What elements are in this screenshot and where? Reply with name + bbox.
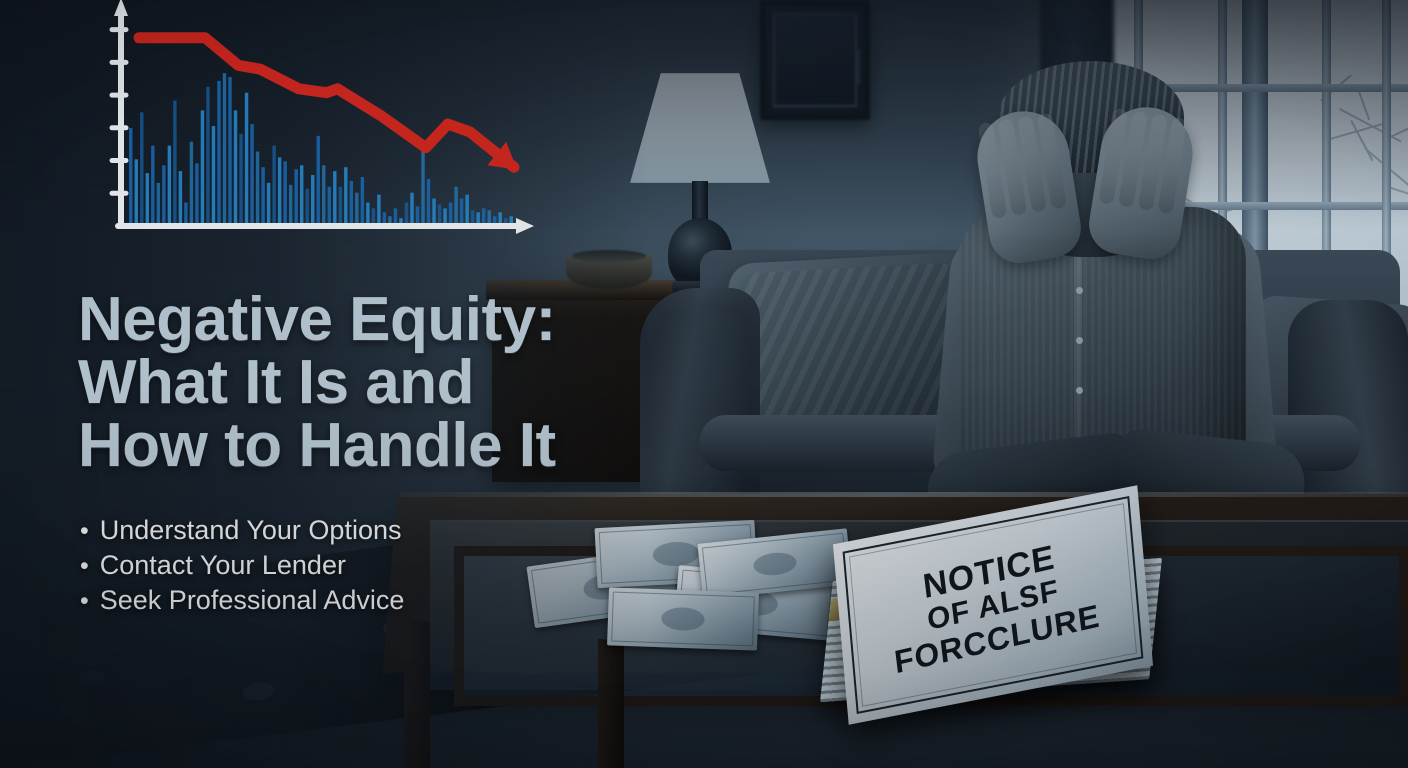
chart-bar xyxy=(377,195,380,226)
chart-bar xyxy=(151,146,154,226)
chart-bar xyxy=(289,185,292,226)
chart-bar xyxy=(317,136,320,226)
chart-bar xyxy=(129,128,132,226)
headline-line-3: How to Handle It xyxy=(78,414,556,477)
declining-market-chart xyxy=(96,0,556,248)
chart-bar xyxy=(300,165,303,226)
chart-bar xyxy=(328,187,331,226)
chart-bar xyxy=(256,152,259,226)
chart-bar xyxy=(190,142,193,226)
chart-bar xyxy=(350,181,353,226)
chart-bar xyxy=(217,81,220,226)
chart-bar xyxy=(366,202,369,226)
chart-svg xyxy=(96,0,556,248)
chart-bar xyxy=(432,199,435,226)
chart-bar xyxy=(228,77,231,226)
bullet-marker-icon: • xyxy=(80,519,89,544)
chart-bar xyxy=(438,204,441,226)
chart-bar xyxy=(465,195,468,226)
list-item: • Seek Professional Advice xyxy=(80,583,404,618)
chart-bar xyxy=(306,189,309,226)
chart-bar xyxy=(294,169,297,226)
trend-line xyxy=(139,38,514,167)
chart-bar xyxy=(261,167,264,226)
chart-bar xyxy=(140,112,143,226)
chart-bar xyxy=(162,165,165,226)
chart-bar xyxy=(421,142,424,226)
chart-bar xyxy=(427,179,430,226)
chart-bar xyxy=(157,183,160,226)
chart-bar xyxy=(168,146,171,226)
chart-bar xyxy=(179,171,182,226)
page-title: Negative Equity: What It Is and How to H… xyxy=(78,288,556,478)
chart-bar xyxy=(449,202,452,226)
chart-bar xyxy=(146,173,149,226)
chart-bar xyxy=(272,146,275,226)
chart-bar xyxy=(223,73,226,226)
chart-bar xyxy=(135,159,138,226)
chart-bar xyxy=(361,177,364,226)
chart-bar xyxy=(405,202,408,226)
bullet-marker-icon: • xyxy=(80,589,89,614)
list-item-label: Understand Your Options xyxy=(100,513,402,548)
chart-bar xyxy=(460,199,463,226)
chart-bar xyxy=(339,187,342,226)
chart-bar xyxy=(250,124,253,226)
chart-bar xyxy=(410,193,413,226)
chart-bar xyxy=(344,167,347,226)
chart-bar xyxy=(195,163,198,226)
chart-bar xyxy=(184,202,187,226)
chart-bar xyxy=(355,193,358,226)
list-item: • Contact Your Lender xyxy=(80,548,404,583)
headline-line-2: What It Is and xyxy=(78,351,556,414)
chart-bar xyxy=(278,157,281,226)
chart-bar xyxy=(212,126,215,226)
bullet-marker-icon: • xyxy=(80,554,89,579)
headline-line-1: Negative Equity: xyxy=(78,288,556,351)
chart-bar xyxy=(267,183,270,226)
list-item-label: Contact Your Lender xyxy=(100,548,346,583)
list-item-label: Seek Professional Advice xyxy=(100,583,405,618)
chart-bar xyxy=(201,110,204,226)
chart-bar xyxy=(173,101,176,226)
chart-bar xyxy=(234,110,237,226)
chart-bar xyxy=(454,187,457,226)
banner-canvas: NOTICE OF ALSF FORCCLURE Negative Equity xyxy=(0,0,1408,768)
chart-bar xyxy=(206,87,209,226)
chart-bar xyxy=(322,165,325,226)
chart-bar xyxy=(333,171,336,226)
chart-bar xyxy=(311,175,314,226)
key-points-list: • Understand Your Options • Contact Your… xyxy=(80,513,404,617)
list-item: • Understand Your Options xyxy=(80,513,404,548)
chart-bar xyxy=(283,161,286,226)
chart-bar xyxy=(245,93,248,226)
chart-bar xyxy=(239,134,242,226)
